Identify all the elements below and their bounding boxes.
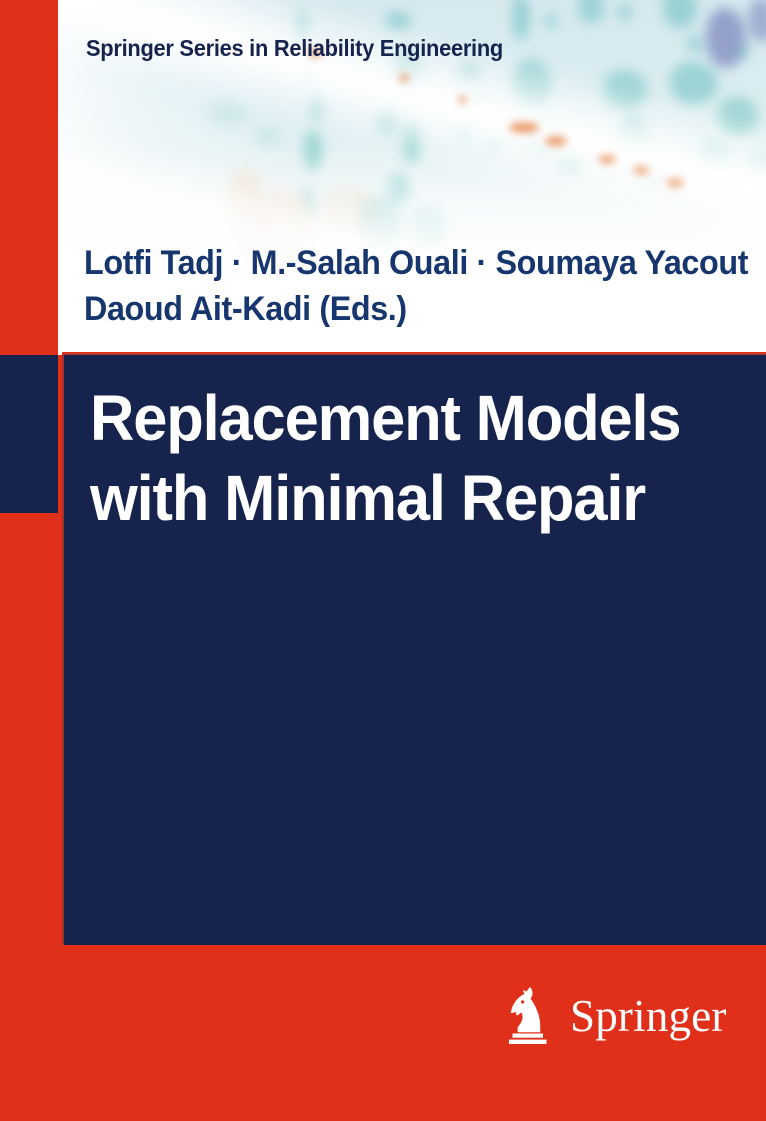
artwork-fleck xyxy=(509,122,539,133)
artwork-blob xyxy=(545,14,557,28)
springer-logo: Springer xyxy=(503,985,727,1047)
artwork-blob xyxy=(618,2,632,22)
artwork-fleck xyxy=(458,96,467,103)
springer-knight-icon xyxy=(503,985,557,1047)
author-list: Lotfi Tadj · M.-Salah Ouali · Soumaya Ya… xyxy=(84,240,748,332)
artwork-blob xyxy=(706,8,746,68)
author-line: Lotfi Tadj · M.-Salah Ouali · Soumaya Ya… xyxy=(84,240,748,286)
book-cover: Springer Series in Reliability Engineeri… xyxy=(0,0,766,1121)
book-title-line: Replacement Models xyxy=(90,378,704,458)
author-line: Daoud Ait-Kadi (Eds.) xyxy=(84,286,748,332)
title-panel-left-edge xyxy=(62,355,64,945)
book-title-line: with Minimal Repair xyxy=(90,458,704,538)
book-title: Replacement Models with Minimal Repair xyxy=(90,378,704,538)
spine-accent-block xyxy=(0,355,58,513)
springer-wordmark: Springer xyxy=(570,994,727,1039)
artwork-blob xyxy=(686,36,704,52)
artwork-blob xyxy=(736,46,750,58)
artwork-fleck xyxy=(399,74,409,82)
artwork-blob xyxy=(670,62,718,104)
series-title: Springer Series in Reliability Engineeri… xyxy=(86,35,503,62)
